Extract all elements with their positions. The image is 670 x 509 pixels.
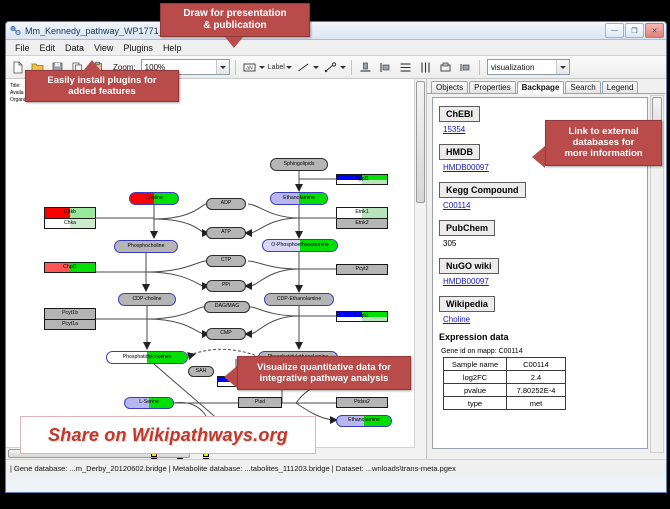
menu-file[interactable]: File [10, 42, 35, 54]
cell-key: log2FC [444, 371, 507, 384]
gene-pcyt1b[interactable]: Pcyt1b [44, 308, 96, 319]
backpage-header-pubchem: PubChem [439, 220, 495, 236]
selection-handle[interactable] [177, 458, 183, 459]
menu-bar: File Edit Data View Plugins Help [6, 40, 666, 56]
status-bar: | Gene database: ...m_Derby_20120602.bri… [6, 459, 666, 476]
cell-value: 2.4 [507, 371, 566, 384]
line-icon[interactable] [295, 59, 312, 76]
order-icon[interactable] [457, 59, 474, 76]
callout-visualize: Visualize quantitative data for integrat… [237, 356, 411, 390]
align-left-icon[interactable] [377, 59, 394, 76]
visualization-combobox[interactable]: visualization [487, 59, 570, 75]
line-tool[interactable] [295, 59, 319, 76]
node-choline-top[interactable]: Choline [129, 192, 179, 205]
new-icon[interactable] [9, 59, 26, 76]
visualization-value: visualization [491, 63, 556, 72]
tab-backpage[interactable]: Backpage [517, 81, 565, 94]
cell-value: C00114 [507, 358, 566, 371]
cell-value: met [507, 397, 566, 410]
backpage-header-wikipedia: Wikipedia [439, 296, 495, 312]
share-text: Share on Wikipathways.org [48, 425, 288, 446]
node-sphingolipids[interactable]: Sphingolipids [270, 158, 328, 171]
callout-links: Link to external databases for more info… [545, 120, 662, 166]
distribute-horizontal-icon[interactable] [417, 59, 434, 76]
node-l-serine-left[interactable]: L-Serine [124, 397, 174, 409]
table-row: Sample name C00114 [444, 358, 566, 371]
node-ethanolamine-bottom[interactable]: Ethanolamine [336, 415, 392, 427]
gene-pcyt1a[interactable]: Pcyt1a [44, 319, 96, 330]
gene-etnk1[interactable]: Etnk1 [336, 207, 388, 218]
node-phosphatidylcholines[interactable]: Phosphatidylcholines [106, 351, 188, 364]
distribute-vertical-icon[interactable] [397, 59, 414, 76]
backpage-link-wikipedia[interactable]: Choline [443, 315, 641, 324]
chevron-down-icon[interactable] [286, 66, 292, 69]
backpage-header-nugo: NuGO wiki [439, 258, 499, 274]
gene-etnk2[interactable]: Etnk2 [336, 218, 388, 229]
gene-pcyt2[interactable]: Pcyt2 [336, 264, 388, 275]
menu-data[interactable]: Data [60, 42, 89, 54]
canvas-vertical-scrollbar[interactable] [414, 79, 426, 459]
gene-chka[interactable]: Chka [44, 218, 96, 229]
gene-id-caption: Gene id on mapp: C00114 [441, 348, 641, 355]
toolbar-separator [351, 60, 352, 75]
side-panel-tabs: Objects Properties Backpage Search Legen… [427, 79, 665, 94]
callout-visualize-pointer [224, 366, 237, 388]
menu-plugins[interactable]: Plugins [118, 42, 158, 54]
menu-view[interactable]: View [89, 42, 118, 54]
datanode-icon[interactable]: aN [241, 59, 258, 76]
table-row: pvalue 7.80252E-4 [444, 384, 566, 397]
node-cdp-ethanolamine[interactable]: CDP-Ethanolamine [264, 293, 334, 306]
node-ethanolamine[interactable]: Ethanolamine [270, 192, 328, 205]
anchor-tool[interactable] [322, 59, 346, 76]
node-sah[interactable]: SAH [188, 366, 214, 377]
expression-data-title: Expression data [439, 332, 641, 342]
callout-plugins: Easily install plugins for added feature… [25, 70, 179, 102]
node-adp[interactable]: ADP [206, 198, 246, 210]
gene-chpt1[interactable]: Chpt1 [44, 262, 96, 273]
chevron-down-icon[interactable] [313, 66, 319, 69]
backpage-link-kegg[interactable]: C00114 [443, 201, 641, 210]
minimize-button[interactable]: — [605, 23, 624, 38]
screenshot-root: Mm_Kennedy_pathway_WP1771_45176.gp — ❐ ✕… [0, 0, 670, 509]
callout-draw: Draw for presentation & publication [160, 3, 310, 37]
node-atp[interactable]: ATP [206, 227, 246, 239]
node-phosphocholine[interactable]: Phosphocholine [114, 240, 178, 253]
callout-links-pointer [532, 146, 545, 168]
table-row: log2FC 2.4 [444, 371, 566, 384]
node-o-phosphoethanolamine[interactable]: O-Phosphoethanolamine [262, 239, 338, 252]
gene-chkb[interactable]: Chkb [44, 207, 96, 218]
node-dag-mag[interactable]: DAG/MAG [204, 301, 250, 313]
title-bar: Mm_Kennedy_pathway_WP1771_45176.gp — ❐ ✕ [6, 22, 666, 40]
callout-plugins-pointer [83, 60, 101, 71]
label-tool-text: Label [268, 64, 285, 71]
gene-sgpl1[interactable]: Sgpl1 [336, 174, 388, 185]
gene-cept1[interactable]: Cept1 [336, 311, 388, 322]
callout-draw-pointer [225, 37, 243, 48]
backpage-link-nugo[interactable]: HMDB00097 [443, 277, 641, 286]
backpage-value-pubchem: 305 [443, 239, 641, 248]
chevron-down-icon[interactable] [259, 66, 265, 69]
label-tool[interactable]: Label [268, 64, 292, 71]
anchor-icon[interactable] [322, 59, 339, 76]
group-icon[interactable] [437, 59, 454, 76]
window-title: Mm_Kennedy_pathway_WP1771_45176.gp [25, 26, 662, 36]
tab-properties[interactable]: Properties [469, 81, 515, 93]
tab-legend[interactable]: Legend [602, 81, 639, 93]
backpage-header-chebi: ChEBI [439, 106, 480, 122]
status-text: | Gene database: ...m_Derby_20120602.bri… [10, 464, 456, 473]
menu-edit[interactable]: Edit [35, 42, 61, 54]
pathway-canvas[interactable]: Title: Availa Organi [6, 79, 427, 459]
gene-ptdss2[interactable]: Ptdss2 [336, 397, 388, 408]
tab-objects[interactable]: Objects [431, 81, 468, 93]
toolbar-separator [235, 60, 236, 75]
selection-handle[interactable] [203, 458, 209, 459]
chevron-down-icon[interactable] [556, 60, 569, 74]
backpage-header-hmdb: HMDB [439, 144, 480, 160]
expression-data-table: Sample name C00114 log2FC 2.4 pvalue 7.8… [443, 357, 566, 410]
datanode-tool[interactable]: aN [241, 59, 265, 76]
pathway-drawing[interactable]: Title: Availa Organi [6, 79, 426, 459]
node-cdp-choline[interactable]: CDP-choline [118, 293, 176, 306]
node-cmp[interactable]: CMP [206, 328, 246, 340]
close-button[interactable]: ✕ [645, 23, 664, 38]
window-controls: — ❐ ✕ [605, 23, 664, 38]
pathvisio-icon [10, 25, 21, 36]
svg-text:aN: aN [246, 65, 253, 71]
toolbar-separator [479, 60, 480, 75]
node-ctp[interactable]: CTP [206, 255, 246, 267]
chevron-down-icon[interactable] [216, 60, 229, 74]
cell-key: type [444, 397, 507, 410]
align-bottom-icon[interactable] [357, 59, 374, 76]
menu-help[interactable]: Help [158, 42, 187, 54]
cell-key: pvalue [444, 384, 507, 397]
chevron-down-icon[interactable] [340, 66, 346, 69]
tab-search[interactable]: Search [565, 81, 600, 93]
selection-handle[interactable] [151, 458, 157, 459]
maximize-button[interactable]: ❐ [625, 23, 644, 38]
node-ppi[interactable]: PPi [206, 280, 246, 292]
cell-value: 7.80252E-4 [507, 384, 566, 397]
gene-pisd[interactable]: Pisd [238, 397, 282, 408]
backpage-header-kegg: Kegg Compound [439, 182, 526, 198]
cell-key: Sample name [444, 358, 507, 371]
table-row: type met [444, 397, 566, 410]
callout-share: Share on Wikipathways.org [20, 416, 316, 454]
